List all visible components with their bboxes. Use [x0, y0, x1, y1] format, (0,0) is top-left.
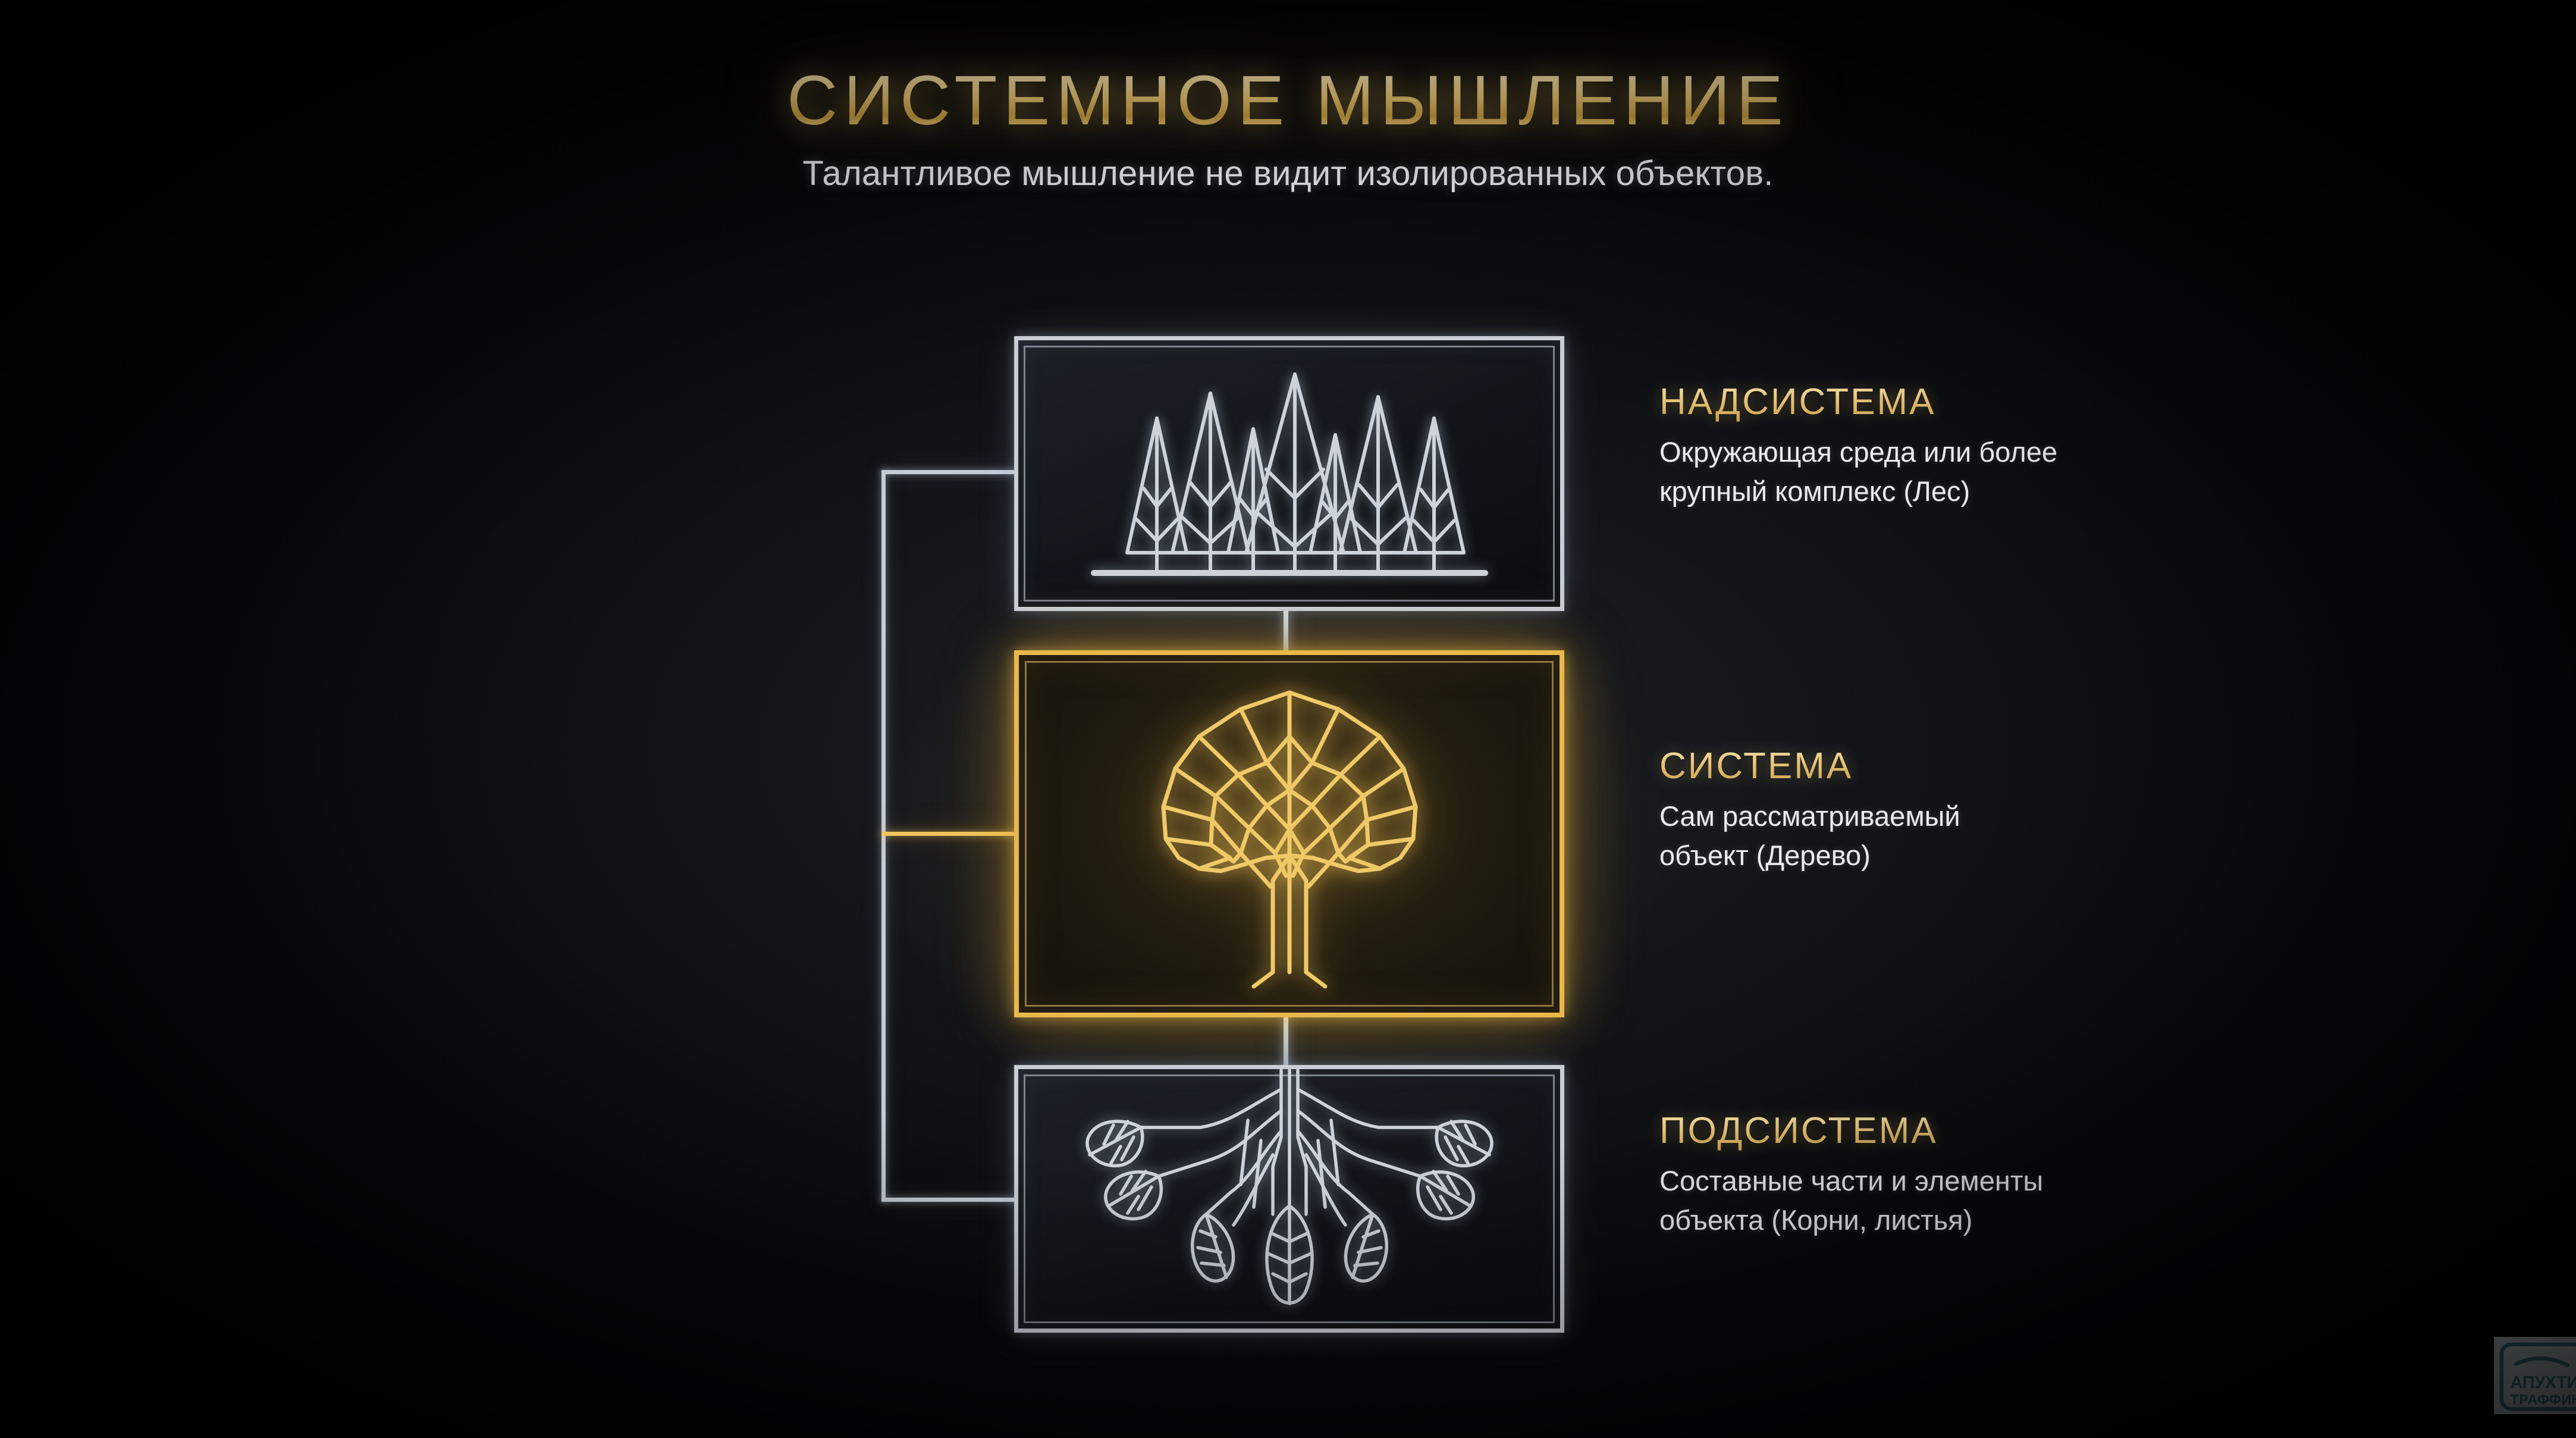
legend-system: СИСТЕМА Сам рассматриваемый объект (Дере… — [1659, 745, 2445, 875]
brand-logo[interactable]: АПУХТИН ТРАФФИК — [2494, 1337, 2576, 1414]
connector-supersystem-system — [1284, 607, 1288, 654]
bracket-arm-supersystem — [881, 470, 1017, 474]
logo-line1: АПУХТИН — [2511, 1373, 2576, 1392]
legend-title-supersystem: НАДСИСТЕМА — [1659, 381, 2445, 423]
bracket-arm-system — [881, 832, 1017, 836]
panel-supersystem[interactable] — [1014, 336, 1564, 611]
connector-system-subsystem — [1284, 1014, 1288, 1069]
legend-desc-system: Сам рассматриваемый объект (Дерево) — [1659, 797, 2445, 875]
logo-line2: ТРАФФИК — [2511, 1392, 2576, 1408]
legend-desc-supersystem: Окружающая среда или более крупный компл… — [1659, 433, 2445, 511]
legend-subsystem: ПОДСИСТЕМА Составные части и элементы об… — [1659, 1110, 2480, 1240]
bracket-spine — [881, 470, 886, 1202]
bracket-arm-subsystem — [881, 1198, 1017, 1202]
legend-supersystem: НАДСИСТЕМА Окружающая среда или более кр… — [1659, 381, 2445, 511]
forest-icon — [1018, 340, 1560, 607]
legend-desc-subsystem: Составные части и элементы объекта (Корн… — [1659, 1161, 2480, 1240]
panel-subsystem[interactable] — [1014, 1065, 1564, 1333]
legend-title-system: СИСТЕМА — [1659, 745, 2445, 787]
legend-title-subsystem: ПОДСИСТЕМА — [1659, 1110, 2480, 1152]
panel-system[interactable] — [1014, 650, 1564, 1017]
roots-leaves-icon — [1018, 1066, 1560, 1321]
tree-icon — [1019, 655, 1560, 1013]
